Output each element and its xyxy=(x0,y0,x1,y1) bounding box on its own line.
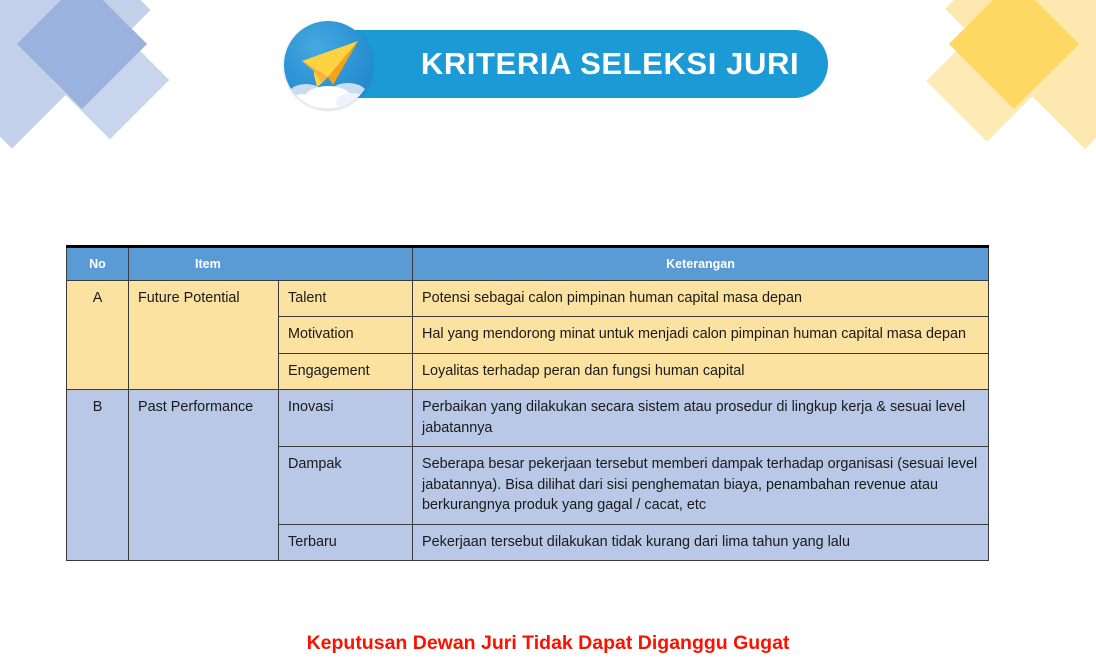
cell-no: B xyxy=(67,390,129,561)
cell-sub: Talent xyxy=(279,281,413,317)
cell-no: A xyxy=(67,281,129,390)
criteria-table-container: No Item Keterangan A Future Potential Ta… xyxy=(66,245,988,561)
cell-sub: Motivation xyxy=(279,317,413,353)
footer-note: Keputusan Dewan Juri Tidak Dapat Digangg… xyxy=(0,632,1096,655)
cell-keterangan: Seberapa besar pekerjaan tersebut member… xyxy=(413,447,989,524)
criteria-table: No Item Keterangan A Future Potential Ta… xyxy=(66,245,989,561)
cell-keterangan: Perbaikan yang dilakukan secara sistem a… xyxy=(413,390,989,447)
title-banner: KRITERIA SELEKSI JURI xyxy=(350,30,828,98)
column-header-keterangan: Keterangan xyxy=(413,247,989,281)
page-title: KRITERIA SELEKSI JURI xyxy=(379,46,799,82)
cell-sub: Engagement xyxy=(279,353,413,389)
cell-sub: Dampak xyxy=(279,447,413,524)
cell-keterangan: Potensi sebagai calon pimpinan human cap… xyxy=(413,281,989,317)
cell-sub: Terbaru xyxy=(279,524,413,560)
column-header-item: Item xyxy=(129,247,413,281)
slide-header: KRITERIA SELEKSI JURI xyxy=(0,0,1096,130)
cell-keterangan: Loyalitas terhadap peran dan fungsi huma… xyxy=(413,353,989,389)
cell-keterangan: Hal yang mendorong minat untuk menjadi c… xyxy=(413,317,989,353)
cell-sub: Inovasi xyxy=(279,390,413,447)
column-header-no: No xyxy=(67,247,129,281)
cell-item: Past Performance xyxy=(129,390,279,561)
paper-plane-icon xyxy=(284,21,372,109)
column-header-item-label: Item xyxy=(133,257,408,271)
table-row: B Past Performance Inovasi Perbaikan yan… xyxy=(67,390,989,447)
cell-item: Future Potential xyxy=(129,281,279,390)
table-header-row: No Item Keterangan xyxy=(67,247,989,281)
table-row: A Future Potential Talent Potensi sebaga… xyxy=(67,281,989,317)
cell-keterangan: Pekerjaan tersebut dilakukan tidak kuran… xyxy=(413,524,989,560)
